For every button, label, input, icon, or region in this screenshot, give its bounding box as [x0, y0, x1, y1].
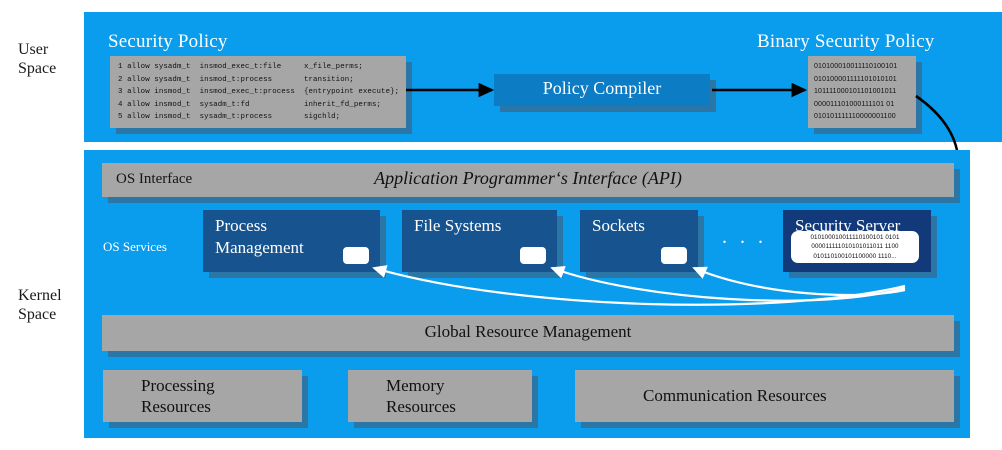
resource-label: Memory Resources — [386, 375, 456, 417]
resource-label: Processing Resources — [141, 375, 215, 417]
global-resource-management-row: Global Resource Management — [102, 315, 954, 351]
global-resource-management-label: Global Resource Management — [102, 322, 954, 342]
resource-box-processing: Processing Resources — [103, 370, 302, 422]
resource-box-communication: Communication Resources — [575, 370, 954, 422]
resource-label: Communication Resources — [643, 385, 827, 406]
diagram-canvas: User Space Kernel Space Security Policy … — [0, 0, 1002, 450]
resource-box-memory: Memory Resources — [348, 370, 532, 422]
arrow-security-server-to-sockets — [694, 268, 905, 295]
